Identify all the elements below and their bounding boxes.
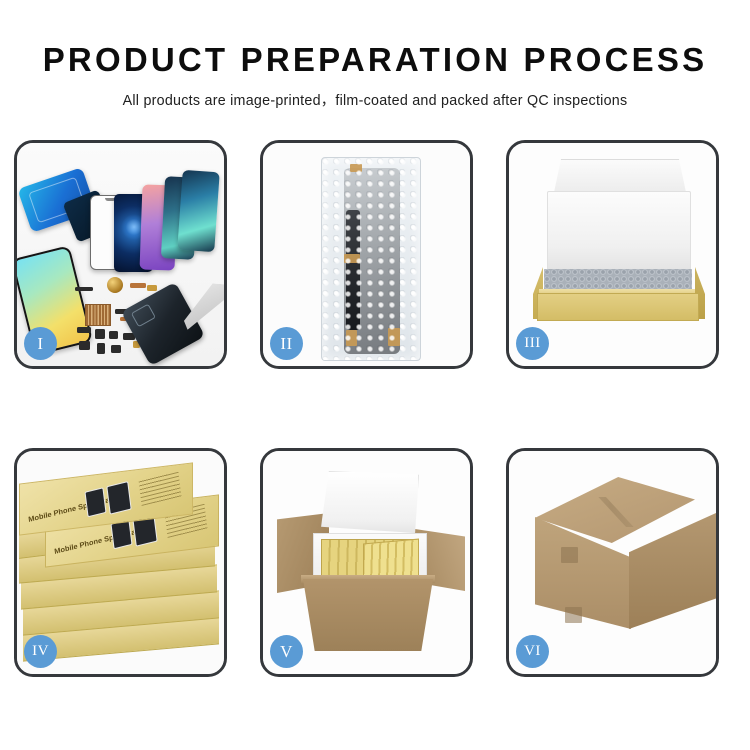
box-lid-spec-lines-1 [139, 471, 182, 506]
step-panel-1[interactable]: I [14, 140, 227, 369]
tape-piece-4 [388, 328, 400, 346]
product-preparation-infographic: PRODUCT PREPARATION PROCESS All products… [0, 0, 750, 750]
box-front-panel [537, 293, 699, 321]
step-badge-1: I [24, 327, 57, 360]
step-badge-6: VI [516, 635, 549, 668]
step-panel-3[interactable]: III [506, 140, 719, 369]
part-flex-1 [130, 283, 146, 288]
tape-piece-1 [350, 164, 362, 172]
step-badge-3: III [516, 327, 549, 360]
page-title: PRODUCT PREPARATION PROCESS [0, 0, 750, 78]
part-strip-1 [75, 287, 93, 291]
foam-sheet-icon [547, 191, 691, 271]
step-badge-4: IV [24, 635, 57, 668]
carton-tape-top [561, 547, 578, 563]
part-chip-4 [79, 341, 90, 350]
step-panel-5[interactable]: V [260, 448, 473, 677]
tape-piece-3 [346, 330, 357, 346]
bubble-wrap-bag-icon [321, 157, 421, 361]
teal-phone-2-icon [177, 170, 219, 252]
page-subtitle: All products are image-printed，film-coat… [0, 78, 750, 110]
speaker-coil-icon [107, 277, 123, 293]
part-chip-1 [95, 329, 105, 339]
part-strip-2 [77, 327, 91, 333]
part-chip-5 [97, 343, 105, 354]
carton-tape-bottom [565, 607, 582, 623]
part-chip-6 [111, 345, 121, 353]
process-step-grid: I II [14, 140, 736, 677]
box-stack: Mobile Phone Spare Parts Mobile Phone Sp… [19, 465, 224, 665]
tape-piece-2 [344, 254, 360, 263]
step-panel-4[interactable]: Mobile Phone Spare Parts Mobile Phone Sp… [14, 448, 227, 677]
wrapped-flex-cable-icon [346, 210, 360, 330]
part-gold-1 [147, 285, 157, 291]
box-lid-phone-2 [106, 481, 131, 515]
step-panel-2[interactable]: II [260, 140, 473, 369]
part-chip-2 [109, 331, 118, 339]
step-panel-6[interactable]: VI [506, 448, 719, 677]
step-badge-5: V [270, 635, 303, 668]
carton-body [303, 579, 433, 651]
box-lid-phone-1 [84, 487, 106, 517]
logic-board-chip-icon [85, 304, 111, 326]
header: PRODUCT PREPARATION PROCESS All products… [0, 0, 750, 110]
foam-box-lid-icon [321, 471, 419, 533]
step-badge-2: II [270, 327, 303, 360]
